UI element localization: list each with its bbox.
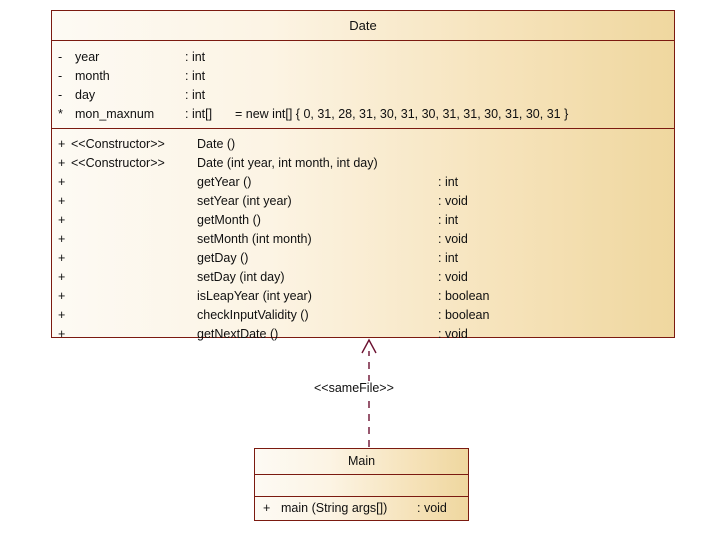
operation-row: +getDay (): int [52,248,674,267]
class-name-main: Main [255,449,468,474]
attribute-type: : int [185,69,205,83]
operation-visibility: + [58,289,65,303]
attribute-visibility: - [58,88,62,102]
class-title-text: Main [348,455,375,468]
operation-signature: checkInputValidity () [197,308,309,322]
operation-visibility: + [58,308,65,322]
operation-row: +getYear (): int [52,172,674,191]
operation-return-type: : int [438,213,458,227]
operation-return-type: : void [438,270,468,284]
attribute-type: : int [185,88,205,102]
operation-return-type: : void [438,232,468,246]
attribute-name: mon_maxnum [75,107,154,121]
operation-visibility: + [58,232,65,246]
attributes-compartment-date: -year: int-month: int-day: int*mon_maxnu… [52,40,674,128]
operation-visibility: + [58,137,65,151]
attribute-type: : int[] [185,107,212,121]
operation-stereotype: <<Constructor>> [71,137,165,151]
operation-return-type: : boolean [438,289,489,303]
operation-signature: getYear () [197,175,251,189]
operation-return-type: : boolean [438,308,489,322]
operation-row: +checkInputValidity (): boolean [52,305,674,324]
operation-visibility: + [58,251,65,265]
operation-visibility: + [58,327,65,341]
operation-signature: getMonth () [197,213,261,227]
operation-stereotype: <<Constructor>> [71,156,165,170]
operation-signature: main (String args[]) [281,501,387,515]
operation-signature: Date () [197,137,235,151]
attribute-row: *mon_maxnum: int[]= new int[] { 0, 31, 2… [52,104,674,123]
operation-visibility: + [58,175,65,189]
attribute-name: month [75,69,110,83]
operation-signature: isLeapYear (int year) [197,289,312,303]
operation-visibility: + [58,156,65,170]
operation-return-type: : void [417,501,447,515]
attribute-name: year [75,50,99,64]
dependency-stereotype-label: <<sameFile>> [311,381,397,395]
operation-visibility: + [58,270,65,284]
uml-class-main[interactable]: Main +main (String args[]): void [254,448,469,521]
class-name-date: Date [52,11,674,40]
attribute-name: day [75,88,95,102]
attributes-compartment-main [255,474,468,496]
attribute-type: : int [185,50,205,64]
uml-class-date[interactable]: Date -year: int-month: int-day: int*mon_… [51,10,675,338]
attribute-visibility: - [58,69,62,83]
operations-compartment-date: +<<Constructor>>Date ()+<<Constructor>>D… [52,128,674,349]
operation-signature: setMonth (int month) [197,232,312,246]
operation-signature: Date (int year, int month, int day) [197,156,378,170]
operation-signature: setYear (int year) [197,194,292,208]
class-title-text: Date [349,19,376,32]
operation-row: +getMonth (): int [52,210,674,229]
operation-signature: setDay (int day) [197,270,285,284]
operations-compartment-main: +main (String args[]): void [255,496,468,518]
attribute-row: -month: int [52,66,674,85]
operation-row: +setMonth (int month): void [52,229,674,248]
attribute-visibility: - [58,50,62,64]
operation-row: +setYear (int year): void [52,191,674,210]
operation-visibility: + [58,194,65,208]
operation-return-type: : int [438,175,458,189]
operation-signature: getDay () [197,251,248,265]
attribute-visibility: * [58,107,63,121]
operation-row: +isLeapYear (int year): boolean [52,286,674,305]
operation-return-type: : int [438,251,458,265]
operation-row: +main (String args[]): void [255,497,468,519]
operation-return-type: : void [438,194,468,208]
operation-row: +setDay (int day): void [52,267,674,286]
operation-return-type: : void [438,327,468,341]
operation-visibility: + [58,213,65,227]
operation-row: +<<Constructor>>Date () [52,134,674,153]
operation-visibility: + [263,501,270,515]
operation-row: +<<Constructor>>Date (int year, int mont… [52,153,674,172]
attribute-value: = new int[] { 0, 31, 28, 31, 30, 31, 30,… [235,107,568,121]
attribute-row: -day: int [52,85,674,104]
operation-signature: getNextDate () [197,327,278,341]
attribute-row: -year: int [52,47,674,66]
